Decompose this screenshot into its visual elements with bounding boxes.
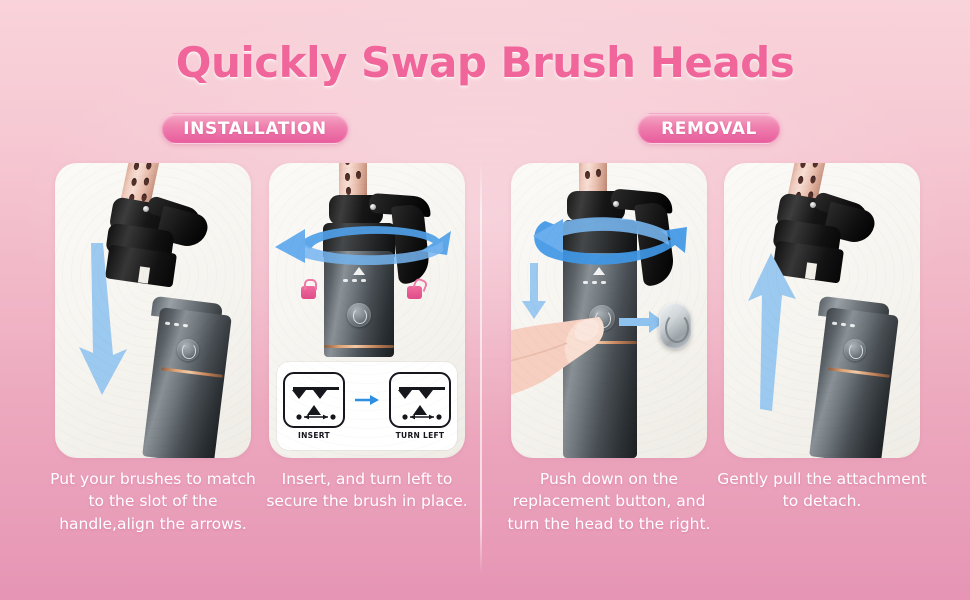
led-indicator-icon xyxy=(583,281,606,284)
diagram-box-turn-left xyxy=(389,372,451,428)
step-image-card-4 xyxy=(724,163,920,458)
alignment-triangle-icon xyxy=(593,267,605,275)
page-title: Quickly Swap Brush Heads xyxy=(0,38,970,87)
step-caption-3: Push down on the replacement button, and… xyxy=(503,468,715,535)
led-indicator-icon xyxy=(343,279,366,282)
clamp-screw-icon xyxy=(810,202,816,208)
up-arrow-icon xyxy=(738,253,808,413)
step-caption-2: Insert, and turn left to secure the brus… xyxy=(261,468,473,513)
power-button-icon xyxy=(844,339,866,361)
right-arrow-icon xyxy=(354,393,380,407)
release-button-detached-icon xyxy=(659,303,691,349)
step-caption-1: Put your brushes to match to the slot of… xyxy=(47,468,259,535)
rotate-arrow-icon xyxy=(271,215,461,273)
locked-padlock-icon xyxy=(301,286,316,299)
step-image-card-3 xyxy=(511,163,707,458)
step-caption-4: Gently pull the attachment to detach. xyxy=(716,468,928,513)
down-arrow-icon xyxy=(69,243,139,403)
diagram-step-insert: INSERT xyxy=(283,372,345,440)
diagram-box-insert xyxy=(283,372,345,428)
diagram-label-insert: INSERT xyxy=(283,431,345,440)
clamp-screw-icon xyxy=(370,204,376,210)
unlocked-padlock-icon xyxy=(407,286,422,299)
power-button-icon xyxy=(177,339,199,361)
step-panel-1: Put your brushes to match to the slot of… xyxy=(55,163,251,535)
rotate-arrow-icon xyxy=(511,205,699,267)
clamp-screw-icon xyxy=(143,206,149,212)
insert-turn-diagram: INSERT xyxy=(277,362,457,450)
step-image-card-1 xyxy=(55,163,251,458)
diagram-label-turn-left: TURN LEFT xyxy=(389,431,451,440)
step-panel-3: Push down on the replacement button, and… xyxy=(511,163,707,535)
step-panel-2: INSERT xyxy=(269,163,465,513)
section-divider xyxy=(480,162,482,574)
step-panel-4: Gently pull the attachment to detach. xyxy=(724,163,920,513)
finger-icon xyxy=(511,303,617,413)
power-button-icon xyxy=(347,303,371,327)
section-badge-removal: REMOVAL xyxy=(637,113,781,144)
diagram-step-turn-left: TURN LEFT xyxy=(389,372,451,440)
step-image-card-2: INSERT xyxy=(269,163,465,458)
section-badge-installation: INSTALLATION xyxy=(161,113,349,144)
copper-ring-accent xyxy=(324,345,394,348)
